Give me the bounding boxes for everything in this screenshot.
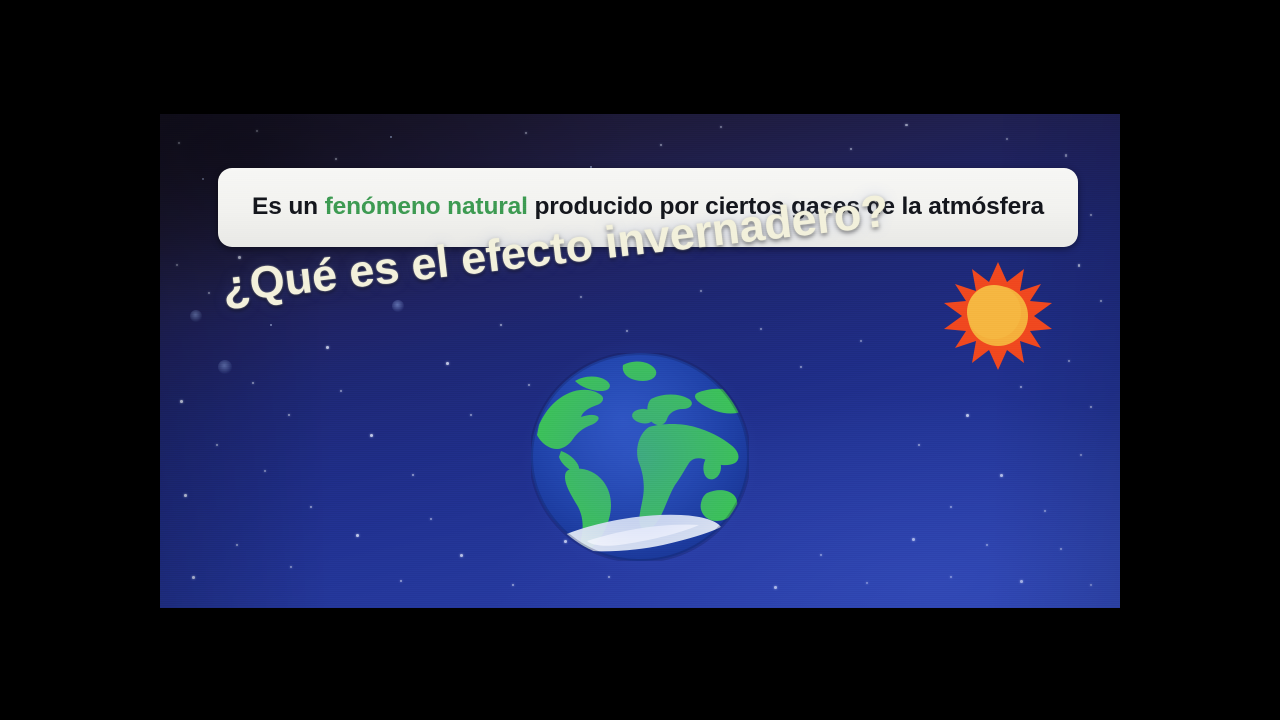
sun-icon — [944, 262, 1052, 370]
letterbox-top — [0, 0, 1280, 114]
caption-suffix: producido por ciertos gases de la atmósf… — [528, 193, 1044, 220]
earth-svg — [531, 353, 749, 561]
letterbox-left — [0, 0, 160, 720]
earth-globe-icon — [531, 353, 749, 561]
video-viewport: Es un fenómeno natural producido por cie… — [0, 0, 1280, 720]
sun-svg — [944, 262, 1052, 370]
letterbox-right — [1120, 0, 1280, 720]
caption-text: Es un fenómeno natural producido por cie… — [252, 195, 1044, 220]
caption-highlight: fenómeno natural — [325, 193, 528, 220]
presentation-slide: Es un fenómeno natural producido por cie… — [160, 114, 1120, 608]
caption-prefix: Es un — [252, 193, 325, 220]
caption-box: Es un fenómeno natural producido por cie… — [218, 168, 1078, 247]
letterbox-bottom — [0, 608, 1280, 720]
